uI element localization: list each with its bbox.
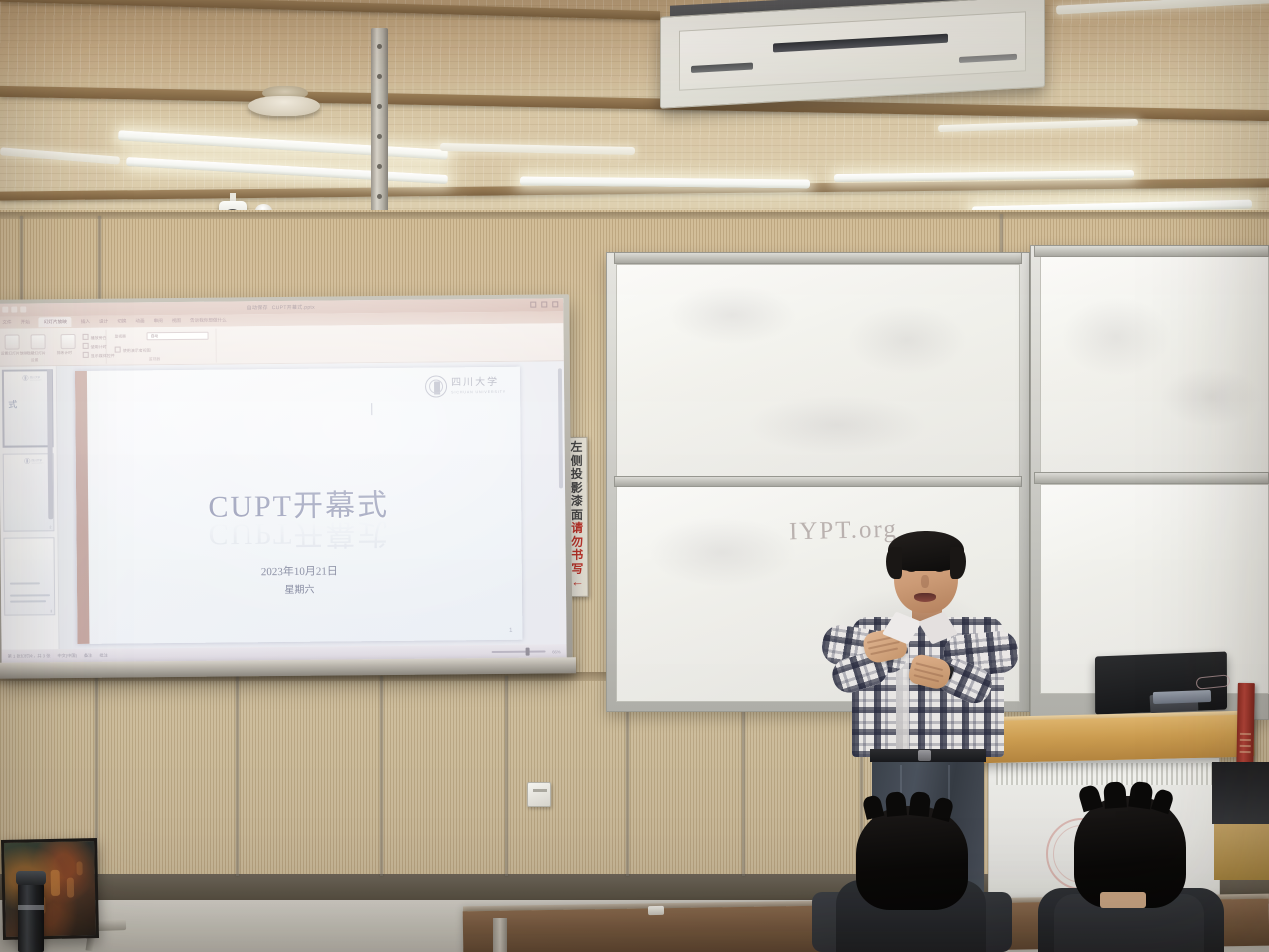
university-seal-icon xyxy=(425,375,447,397)
student-left-head xyxy=(856,806,968,910)
tab-animations[interactable]: 动画 xyxy=(135,318,144,324)
presenter-hair-left xyxy=(886,547,902,579)
thermos-band xyxy=(18,905,44,910)
ribbon-body[interactable]: 设置幻灯片放映 隐藏幻灯片 排练计时 播放旁白 使用计时 显示媒体控件 设置 监… xyxy=(0,323,564,366)
tab-tell-me[interactable]: 告诉我你想做什么 xyxy=(190,318,227,324)
language-indicator[interactable]: 中文(中国) xyxy=(57,653,77,659)
presenter-belt-buckle xyxy=(918,750,931,761)
redo-icon[interactable] xyxy=(20,306,26,312)
rehearse-timings-label[interactable]: 排练计时 xyxy=(57,351,72,356)
zoom-level[interactable]: 66% xyxy=(552,649,560,654)
whiteboard-right-upper-panel xyxy=(1040,256,1269,474)
ribbon-group-monitors-name: 监视器 xyxy=(149,357,160,362)
slide-weekday: 星期六 xyxy=(77,578,522,597)
thumbnail-2-number: 2 xyxy=(49,525,51,529)
rehearse-timings-icon[interactable] xyxy=(61,334,76,349)
zoom-slider-knob[interactable] xyxy=(525,648,529,656)
desk-clip-1 xyxy=(648,906,664,915)
lecture-hall-photo: EPSON IYPT.org xyxy=(0,0,1269,952)
wall-outlet xyxy=(527,782,551,807)
presenter-nose xyxy=(921,575,929,588)
slide-title-reflection: CUPT开幕式 xyxy=(76,513,521,561)
autosave-label: 自动保存 xyxy=(247,304,268,311)
easel-poster xyxy=(1,838,99,940)
slide-date: 2023年10月21日 xyxy=(77,561,522,581)
slide-editing-canvas[interactable]: 四川大学 SICHUAN UNIVERSITY CUPT开幕式 CUPT开幕式 … xyxy=(57,361,567,649)
warn-char-2: 投 xyxy=(571,468,583,482)
tab-file[interactable]: 文件 xyxy=(2,320,11,326)
close-icon[interactable] xyxy=(552,301,558,307)
presenter-hair-right xyxy=(950,547,966,579)
tab-review[interactable]: 审阅 xyxy=(154,318,163,324)
whiteboard-smudge-f xyxy=(1061,297,1171,377)
student-front-right xyxy=(1044,788,1214,952)
university-name-cn: 四川大学 xyxy=(451,378,506,389)
slide-thumbnail-1[interactable]: 四川大学 SICHUAN UNIVERSITY 式 1 xyxy=(2,369,54,447)
ac-faceplate xyxy=(679,11,1026,90)
thumbnail-logo-icon-2: 四川大学 SICHUAN UNIVERSITY xyxy=(24,457,50,464)
side-table-wood-base xyxy=(1214,820,1269,880)
comments-button[interactable]: 批注 xyxy=(99,653,107,659)
thermos-cap xyxy=(16,871,46,885)
hide-slide-label[interactable]: 隐藏幻灯片 xyxy=(27,351,46,356)
desk-leg-1 xyxy=(493,918,507,952)
hide-slide-icon[interactable] xyxy=(31,334,46,349)
warn-char-8: 书 xyxy=(571,549,583,563)
whiteboard-left-upper-panel xyxy=(616,264,1020,479)
whiteboard-smudge-b xyxy=(847,305,967,375)
tab-transitions[interactable]: 切换 xyxy=(117,319,126,325)
tab-insert[interactable]: 插入 xyxy=(81,319,90,325)
slide-counter: 第 1 张幻灯片，共 3 张 xyxy=(8,653,51,659)
setup-slideshow-label[interactable]: 设置幻灯片放映 xyxy=(1,351,25,356)
ppt-document-name: CUPT开幕式.pptx xyxy=(272,304,315,311)
monitor-select-label: 监视器 xyxy=(115,335,126,340)
tab-design[interactable]: 设计 xyxy=(99,319,108,325)
svg-text:四川大学: 四川大学 xyxy=(32,458,43,462)
thumbnail-1-text: 式 xyxy=(8,398,17,411)
text-cursor xyxy=(372,403,373,415)
projected-powerpoint[interactable]: 自动保存 CUPT开幕式.pptx 文件 开始 幻灯片放映 插入 设计 切换 动… xyxy=(0,298,567,663)
wall-seam-upper-2 xyxy=(98,216,101,300)
presenter-mouth xyxy=(914,593,936,602)
side-table xyxy=(1212,762,1269,824)
use-timings-checkbox[interactable]: 使用计时 xyxy=(83,343,107,351)
podium-vent-grille xyxy=(996,763,1212,785)
warn-char-4: 漆 xyxy=(571,495,583,509)
whiteboard-smudge-c xyxy=(747,395,927,455)
save-icon[interactable] xyxy=(2,307,8,313)
projection-screen: 自动保存 CUPT开幕式.pptx 文件 开始 幻灯片放映 插入 设计 切换 动… xyxy=(0,294,573,678)
thumbnail-logo-icon: 四川大学 SICHUAN UNIVERSITY xyxy=(22,374,48,381)
wall-trim-upper xyxy=(0,212,1269,219)
zoom-slider[interactable] xyxy=(491,650,545,653)
presenter-view-checkbox[interactable]: 使用演示者视图 xyxy=(115,346,151,354)
play-narration-checkbox[interactable]: 播放旁白 xyxy=(83,334,107,342)
undo-icon[interactable] xyxy=(11,307,17,313)
slide-thumbnail-2[interactable]: 四川大学 SICHUAN UNIVERSITY 2 xyxy=(3,453,55,531)
minimize-icon[interactable] xyxy=(530,302,536,308)
wall-seam-2 xyxy=(236,676,239,876)
notes-button[interactable]: 备注 xyxy=(84,653,92,659)
slide-page-number: 1 xyxy=(509,628,512,634)
tab-home[interactable]: 开始 xyxy=(21,319,30,325)
thumbnail-3-number: 3 xyxy=(50,609,52,613)
whiteboard-right-top-rail xyxy=(1034,245,1269,257)
tab-view[interactable]: 视图 xyxy=(172,318,181,324)
thermos-bottle xyxy=(18,882,44,952)
warn-arrow-icon: ← xyxy=(571,576,584,587)
university-name-en: SICHUAN UNIVERSITY xyxy=(451,390,506,395)
window-buttons[interactable] xyxy=(530,301,558,307)
whiteboard-smudge-d xyxy=(647,517,797,587)
ribbon-group-setup-name: 设置 xyxy=(31,358,39,363)
svg-text:四川大学: 四川大学 xyxy=(30,375,41,379)
setup-slideshow-icon[interactable] xyxy=(5,335,20,350)
warn-char-6: 请 xyxy=(571,522,583,536)
wall-seam-upper-1 xyxy=(20,216,23,306)
ribbon-group-monitors: 监视器 自动 使用演示者视图 监视器 xyxy=(110,329,216,364)
whiteboard-smudge-a xyxy=(667,285,797,345)
ceiling-speaker xyxy=(248,96,320,116)
whiteboard-left-mid-rail xyxy=(614,476,1022,487)
whiteboard-right-mid-rail xyxy=(1034,472,1269,484)
warn-char-0: 左 xyxy=(570,441,582,455)
sichuan-university-logo: 四川大学 SICHUAN UNIVERSITY xyxy=(425,375,506,398)
wall-seam-3 xyxy=(380,676,383,876)
whiteboard-left-top-rail xyxy=(614,252,1022,264)
student-front-left xyxy=(830,796,1000,952)
projector-mount-pole xyxy=(371,28,388,223)
wall-seam-4 xyxy=(505,676,508,876)
podium-laptop xyxy=(1153,690,1211,704)
monitor-select-value: 自动 xyxy=(151,334,159,339)
current-slide[interactable]: 四川大学 SICHUAN UNIVERSITY CUPT开幕式 CUPT开幕式 … xyxy=(75,367,523,644)
quick-access-toolbar[interactable] xyxy=(2,306,26,312)
ribbon-group-setup: 设置幻灯片放映 隐藏幻灯片 排练计时 播放旁白 使用计时 显示媒体控件 设置 xyxy=(0,330,106,365)
slide-thumbnail-3[interactable]: 3 xyxy=(3,537,55,615)
tab-slideshow[interactable]: 幻灯片放映 xyxy=(39,317,72,327)
maximize-icon[interactable] xyxy=(541,301,547,307)
whiteboard-smudge-g xyxy=(1161,367,1261,427)
